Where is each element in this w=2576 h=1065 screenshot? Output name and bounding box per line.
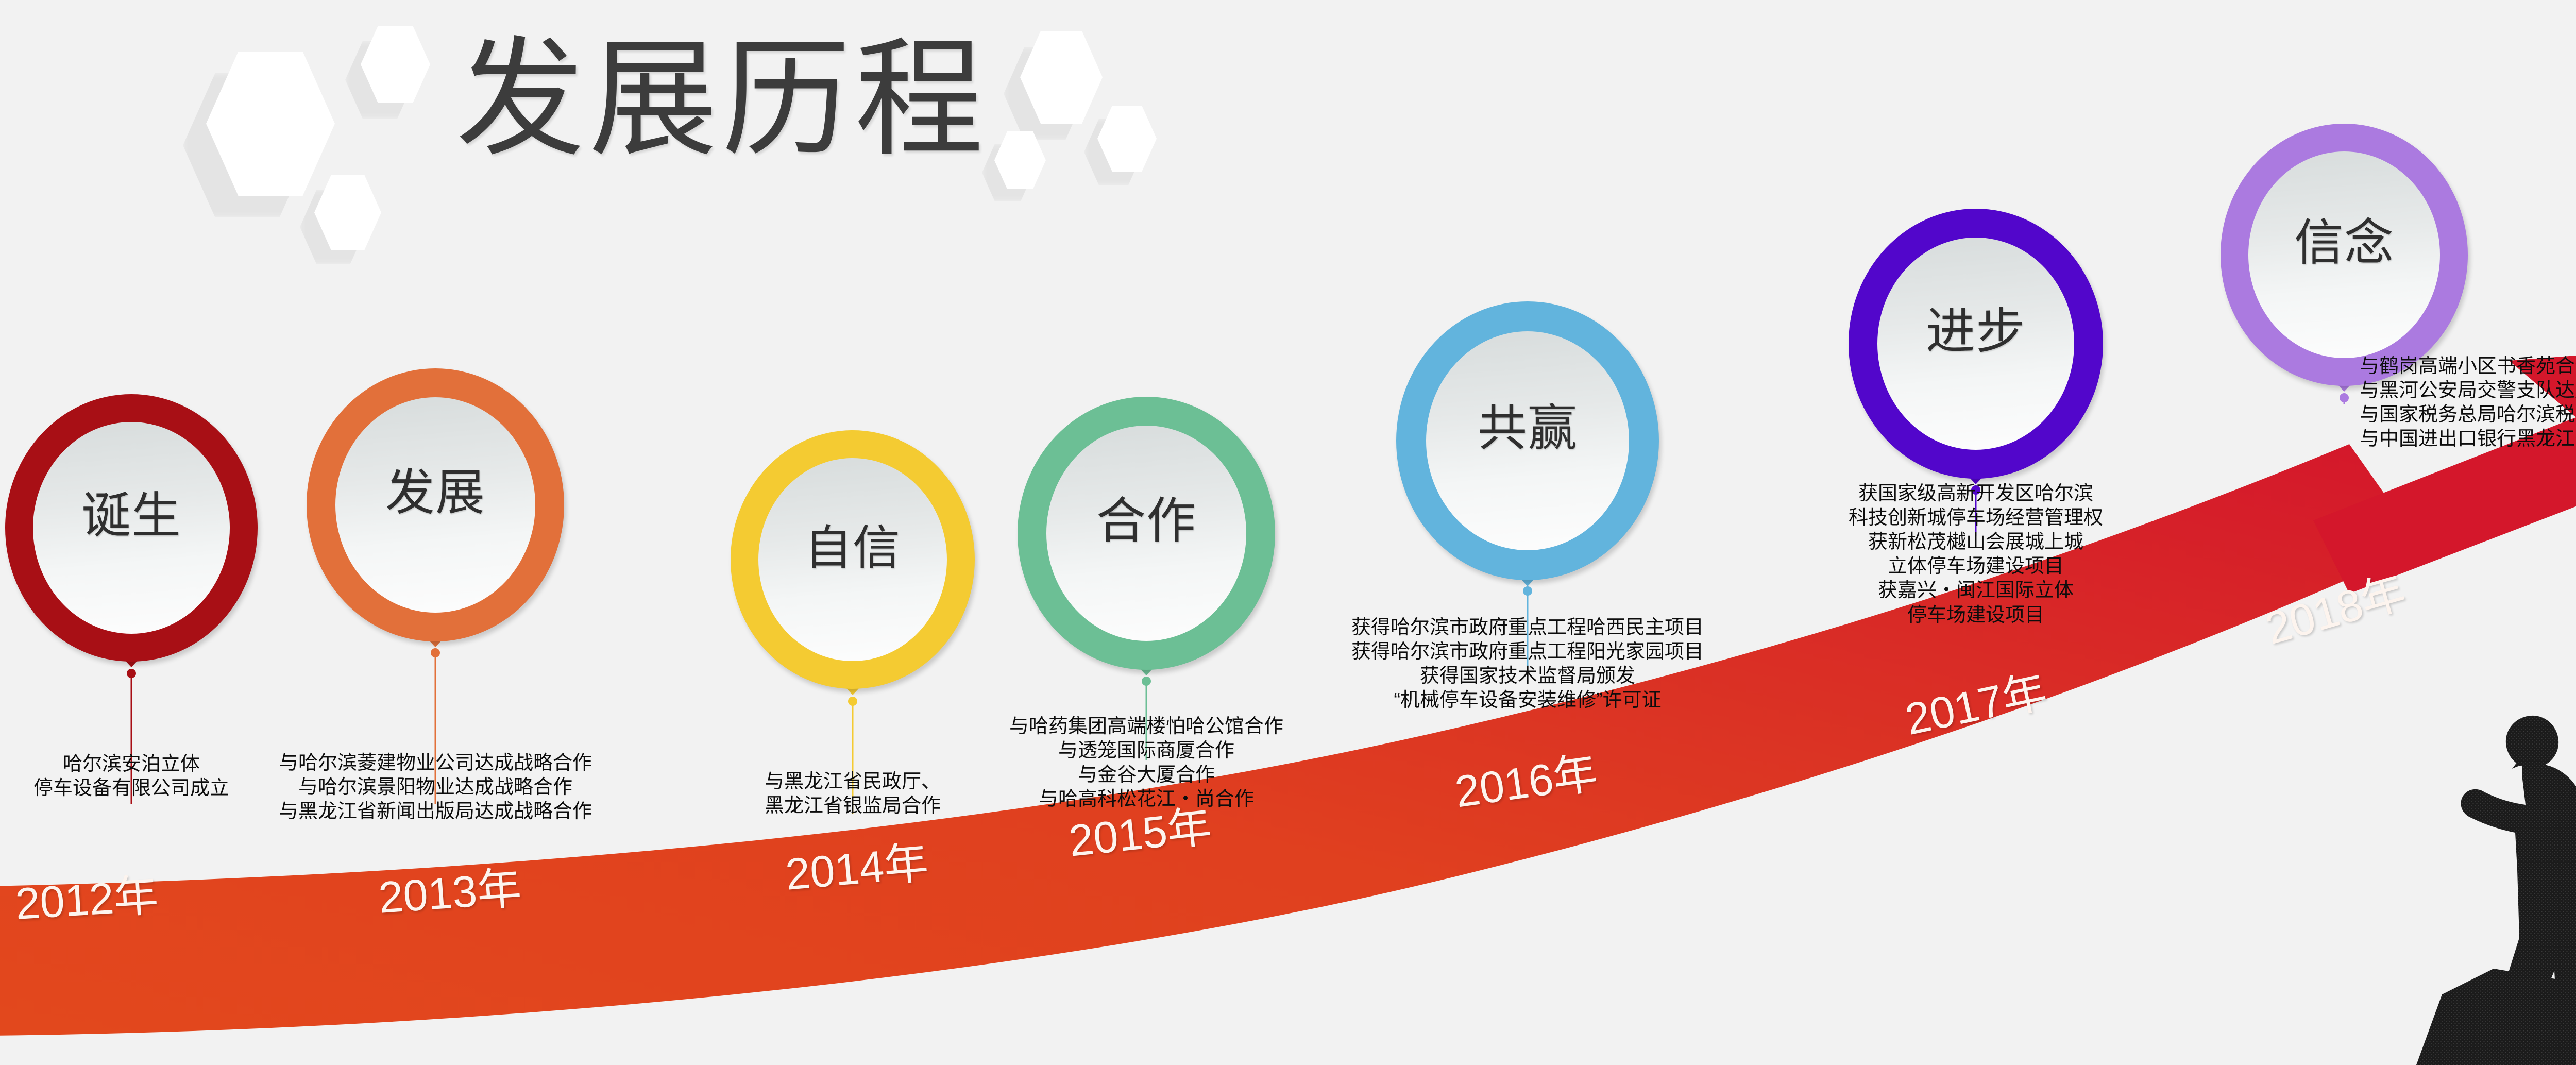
description-line: 与鹤岗高端小区书香苑合作 xyxy=(2360,354,2576,379)
pin-label: 信念 xyxy=(2294,218,2394,268)
pin-anchor-dot xyxy=(2340,393,2349,402)
description-line: 立体停车场建设项目 xyxy=(0,554,2576,579)
year-label-2014: 2014年 xyxy=(784,840,930,897)
description-line: 获嘉兴・闽江国际立体 xyxy=(0,579,2576,603)
pin-label: 诞生 xyxy=(81,492,181,541)
description-line: 与黑河公安局交警支队达成合作 xyxy=(2360,379,2576,403)
description-line: 获新松茂樾山会展城上城 xyxy=(0,530,2576,554)
milestone-description-2016: 获得哈尔滨市政府重点工程哈西民主项目获得哈尔滨市政府重点工程阳光家园项目获得国家… xyxy=(0,616,2576,713)
pin-ring: 进步 xyxy=(1849,209,2103,479)
description-line: 与透笼国际商厦合作 xyxy=(0,739,2293,763)
year-label-2013: 2013年 xyxy=(377,866,523,920)
timeline-pin-2018[interactable]: 信念 xyxy=(2221,124,2468,386)
description-line: 与中国进出口银行黑龙江省分行达成合作 xyxy=(2360,427,2576,451)
pin-inner-disc: 信念 xyxy=(2248,151,2440,358)
pin-label: 自信 xyxy=(805,525,901,572)
description-line: “机械停车设备安装维修”许可证 xyxy=(0,688,2576,713)
year-label-2012: 2012年 xyxy=(14,873,159,926)
timeline-pin-2017[interactable]: 进步 xyxy=(1849,209,2103,479)
pin-label: 合作 xyxy=(1096,497,1196,546)
pin-label: 进步 xyxy=(1926,307,2026,357)
milestone-description-2018: 与鹤岗高端小区书香苑合作与黑河公安局交警支队达成合作与国家税务总局哈尔滨税务局达… xyxy=(2360,354,2576,451)
pin-label: 共赢 xyxy=(1478,404,1578,453)
pin-inner-disc: 进步 xyxy=(1877,238,2074,450)
description-line: 获得哈尔滨市政府重点工程阳光家园项目 xyxy=(0,640,2576,664)
pin-ring: 信念 xyxy=(2221,124,2468,386)
description-line: 与国家税务总局哈尔滨税务局达成合作 xyxy=(2360,403,2576,427)
pin-label: 发展 xyxy=(385,468,485,518)
description-line: 获得国家技术监督局颁发 xyxy=(0,664,2576,688)
infographic-canvas: 发展历程 xyxy=(0,0,2576,1065)
description-line: 停车场建设项目 xyxy=(0,603,2576,628)
description-line: 与金谷大厦合作 xyxy=(0,763,2293,787)
